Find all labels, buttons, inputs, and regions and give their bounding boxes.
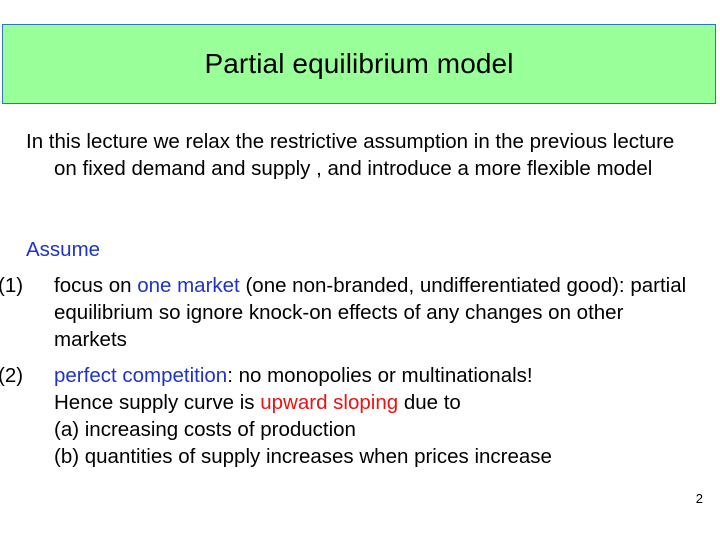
page-number: 2 xyxy=(696,492,703,505)
list-item-1: (1)focus on one market (one non-branded,… xyxy=(26,272,698,353)
list-item-2-subline-1: Hence supply curve is upward sloping due… xyxy=(54,391,461,414)
assume-heading: Assume xyxy=(26,236,698,263)
list-spacer xyxy=(26,353,698,362)
slide-title-box: Partial equilibrium model xyxy=(2,24,716,104)
text-run-red: upward sloping xyxy=(260,391,398,414)
text-run-black: : no monopolies or multinationals! xyxy=(227,364,532,387)
page-title: Partial equilibrium model xyxy=(204,49,513,80)
list-item-2-text: perfect competition: no monopolies or mu… xyxy=(54,364,533,387)
list-item-2-label: (2) xyxy=(26,362,54,389)
list-item-2-subline-3: (b) quantities of supply increases when … xyxy=(54,445,552,468)
intro-paragraph: In this lecture we relax the restrictive… xyxy=(26,128,698,182)
list-item-1-text: focus on one market (one non-branded, un… xyxy=(54,274,686,351)
slide-canvas: Partial equilibrium model In this lectur… xyxy=(0,0,720,540)
paragraph-spacer xyxy=(26,182,698,236)
list-item-2: (2)perfect competition: no monopolies or… xyxy=(26,362,698,470)
text-run-black: focus on xyxy=(54,274,137,297)
list-item-2-subline-2: (a) increasing costs of production xyxy=(54,418,356,441)
text-run-black: (b) quantities of supply increases when … xyxy=(54,445,552,468)
text-run-black: (a) increasing costs of production xyxy=(54,418,356,441)
text-run-black: Hence supply curve is xyxy=(54,391,260,414)
slide-body: In this lecture we relax the restrictive… xyxy=(26,128,698,470)
text-run-blue: one market xyxy=(137,274,240,297)
heading-spacer xyxy=(26,263,698,272)
list-item-1-label: (1) xyxy=(26,272,54,299)
text-run-black: due to xyxy=(398,391,461,414)
text-run-blue: perfect competition xyxy=(54,364,227,387)
